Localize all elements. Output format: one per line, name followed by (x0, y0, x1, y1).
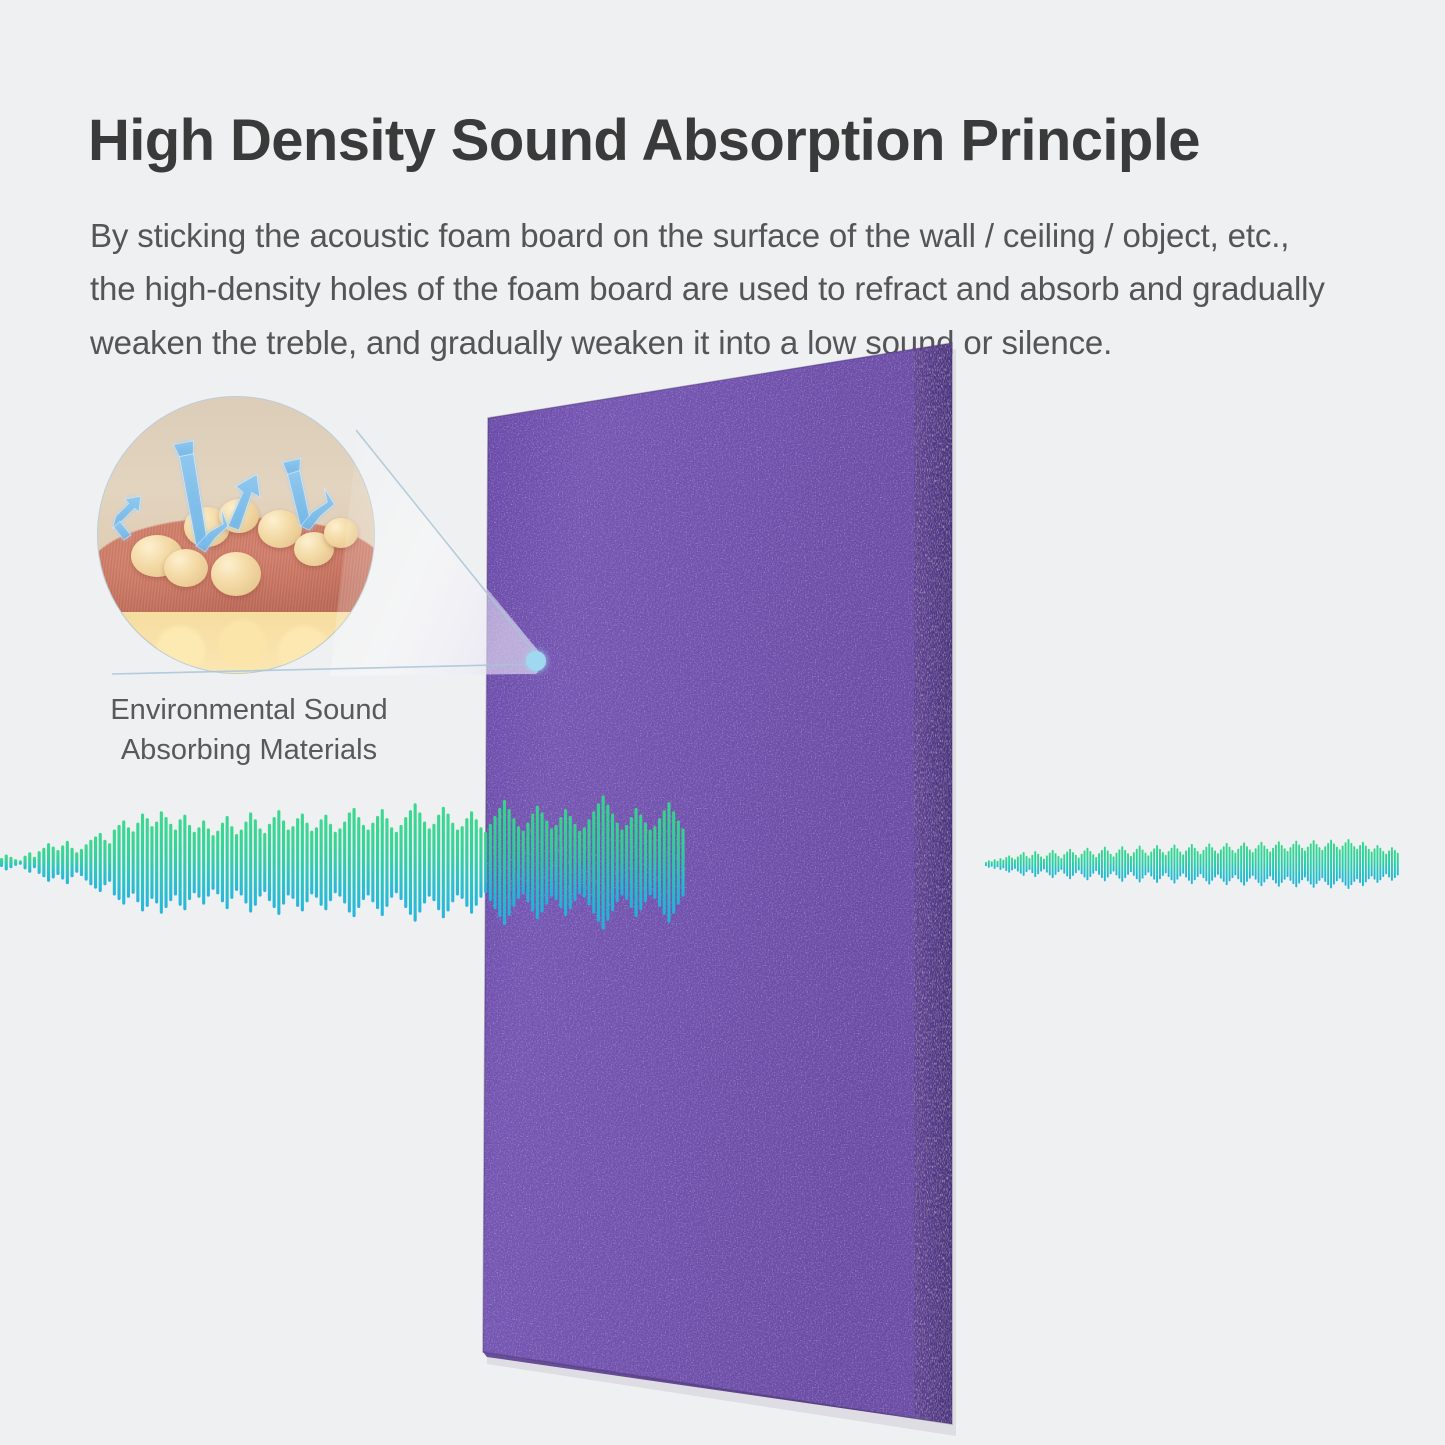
waveform-bar (1266, 849, 1268, 879)
waveform-bar (249, 812, 252, 912)
waveform-bar (1391, 847, 1393, 881)
waveform-bar (1168, 851, 1170, 877)
waveform-bar (630, 817, 633, 908)
waveform-bar (564, 809, 567, 916)
waveform-bar (24, 856, 27, 870)
waveform-bar (545, 820, 548, 904)
waveform-bar (1339, 849, 1341, 878)
waveform-bar (235, 834, 238, 891)
waveform-bar (437, 815, 440, 911)
waveform-bar (338, 828, 341, 896)
waveform-bar (1246, 846, 1248, 882)
waveform-bar (390, 827, 393, 898)
waveform-bar (1113, 856, 1115, 871)
waveform-bar (1258, 845, 1260, 883)
waveform-bar (1014, 859, 1016, 869)
waveform-bar (418, 812, 421, 912)
waveform-bar (1272, 848, 1274, 881)
waveform-bar (1107, 850, 1109, 877)
waveform-bar (1176, 848, 1178, 879)
waveform-bar (550, 828, 553, 896)
waveform-bar (5, 855, 8, 871)
waveform-bar (1310, 843, 1312, 884)
waveform-bar (1171, 848, 1173, 881)
waveform-bar (1017, 856, 1019, 871)
waveform-bar (569, 816, 572, 909)
waveform-bar (1063, 854, 1065, 874)
waveform-bar (1066, 852, 1068, 877)
waveform-bar (1353, 846, 1355, 882)
waveform-bar (1292, 844, 1294, 884)
waveform-bar (315, 827, 318, 898)
waveform-bar (620, 829, 623, 895)
waveform-bar (1342, 846, 1344, 883)
waveform-bar (1124, 850, 1126, 878)
waveform-bar (155, 822, 158, 904)
waveform-bar (1304, 850, 1306, 877)
waveform-bar (489, 824, 492, 901)
waveform-bar (1350, 843, 1352, 885)
waveform-bar (1281, 845, 1283, 883)
waveform-bar (1133, 852, 1135, 876)
waveform-bar (1142, 849, 1144, 878)
waveform-bar (183, 815, 186, 911)
waveform-bar (1060, 858, 1062, 870)
waveform-bar (658, 818, 661, 907)
waveform-bar (583, 827, 586, 898)
waveform-bar (1058, 856, 1060, 872)
waveform-bar (475, 819, 478, 906)
waveform-bar (494, 816, 497, 909)
waveform-bar (1240, 846, 1242, 883)
waveform-bar (282, 820, 285, 904)
waveform-bar (1188, 847, 1190, 881)
waveform-bar (461, 826, 464, 899)
waveform-bar (682, 828, 685, 896)
waveform-bar (602, 795, 605, 929)
waveform-bar (193, 832, 196, 893)
waveform-bar (1217, 853, 1219, 875)
waveform-bar (1208, 843, 1210, 884)
waveform-bar (991, 861, 993, 866)
waveform-bar (1321, 850, 1323, 878)
waveform-bar (1081, 854, 1083, 875)
waveform-bar (1029, 858, 1031, 870)
waveform-bar (597, 803, 600, 921)
waveform-bar (1295, 841, 1297, 888)
waveform-bar (197, 827, 200, 898)
waveform-bar (33, 857, 36, 868)
waveform-bar (1072, 852, 1074, 876)
waveform-bar (207, 828, 210, 896)
waveform-bar (1159, 849, 1161, 879)
waveform-bar (1118, 849, 1120, 878)
waveform-bar (1034, 851, 1036, 877)
waveform-bar (512, 818, 515, 907)
waveform-bar (503, 800, 506, 925)
waveform-bar (1043, 859, 1045, 870)
waveform-bar (400, 825, 403, 900)
waveform-bar (536, 806, 539, 920)
waveform-bar (287, 829, 290, 895)
waveform-bar (136, 823, 139, 903)
waveform-bar (616, 823, 619, 903)
waveform-bar (1316, 844, 1318, 884)
waveform-bar (306, 823, 309, 903)
waveform-bar (1179, 852, 1181, 877)
waveform-bar (165, 817, 168, 908)
waveform-bar (428, 828, 431, 896)
waveform-bar (663, 810, 666, 915)
waveform-bar (52, 847, 55, 879)
sound-refraction-arrow (288, 470, 311, 526)
waveform-bar (85, 844, 88, 880)
waveform-bar (169, 824, 172, 901)
waveform-bar (1121, 846, 1123, 882)
waveform-bar (1327, 843, 1329, 885)
waveform-bar (160, 811, 163, 913)
waveform-bar (1237, 849, 1239, 879)
waveform-bar (1139, 846, 1141, 883)
waveform-bar (216, 831, 219, 895)
waveform-bar (1191, 844, 1193, 884)
waveform-bar (1095, 857, 1097, 871)
waveform-bar (381, 809, 384, 916)
waveform-bar (1162, 852, 1164, 876)
waveform-bar (9, 857, 12, 868)
waveform-bar (230, 826, 233, 899)
infographic-poster: High Density Sound Absorption Principle … (0, 0, 1445, 1445)
waveform-bar (1150, 852, 1152, 877)
waveform-bar (94, 836, 97, 888)
waveform-bar (1379, 848, 1381, 881)
sound-refraction-arrow (179, 454, 207, 546)
waveform-bar (334, 832, 337, 893)
magnifier-caption-line2: Absorbing Materials (84, 730, 414, 770)
panel-right-edge (914, 343, 952, 1424)
sound-refraction-arrow (228, 474, 260, 530)
waveform-bar (414, 803, 417, 921)
waveform-bar (1263, 846, 1265, 883)
waveform-bar (188, 825, 191, 900)
waveform-bar (1385, 854, 1387, 875)
waveform-bar (259, 828, 262, 896)
waveform-bar (1359, 845, 1361, 883)
waveform-bar (447, 814, 450, 912)
waveform-bar (994, 859, 996, 869)
waveform-bar (635, 808, 638, 917)
waveform-bar (1229, 847, 1231, 882)
magnifier-caption: Environmental Sound Absorbing Materials (84, 690, 414, 770)
waveform-bar (329, 824, 332, 901)
waveform-bar (1031, 855, 1033, 873)
waveform-bar (118, 825, 121, 900)
waveform-bar (263, 833, 266, 892)
waveform-bar (343, 822, 346, 904)
waveform-bar (1382, 851, 1384, 877)
waveform-bar (1098, 853, 1100, 875)
waveform-bar (1214, 850, 1216, 877)
waveform-bar (451, 823, 454, 903)
waveform-bar (1374, 848, 1376, 879)
waveform-bar (89, 840, 92, 886)
waveform-bar (677, 820, 680, 904)
waveform-bar (179, 819, 182, 906)
waveform-bar (75, 852, 78, 872)
waveform-bar (555, 825, 558, 900)
waveform-bar (1319, 847, 1321, 881)
waveform-bar (103, 840, 106, 886)
waveform-bar (47, 843, 50, 882)
waveform-bar (254, 819, 257, 906)
waveform-bar (61, 845, 64, 879)
waveform-bar (1275, 844, 1277, 883)
waveform-bar (1220, 849, 1222, 878)
waveform-bar (1324, 846, 1326, 882)
sound-refraction-arrows (98, 397, 374, 673)
waveform-bar (672, 811, 675, 913)
waveform-bar (508, 809, 511, 916)
waveform-bar (146, 818, 149, 907)
waveform-bar (649, 829, 652, 895)
waveform-bar (1194, 848, 1196, 881)
waveform-bar (376, 816, 379, 909)
waveform-bar (479, 827, 482, 898)
waveform-bar (221, 823, 224, 903)
waveform-bar (1023, 852, 1025, 876)
waveform-bar (1084, 850, 1086, 877)
waveform-bar (1046, 855, 1048, 872)
waveform-bar (1362, 842, 1364, 886)
waveform-bar (320, 819, 323, 906)
waveform-bar (1203, 850, 1205, 878)
waveform-bar (1301, 848, 1303, 881)
waveform-bar (988, 860, 990, 868)
waveform-bar (1252, 852, 1254, 876)
waveform-bar (1153, 848, 1155, 879)
material-magnifier-circle (97, 396, 375, 674)
waveform-bar (1110, 854, 1112, 875)
waveform-bar (985, 862, 987, 866)
waveform-bar (353, 808, 356, 917)
waveform-bar (1330, 840, 1332, 889)
waveform-bar (541, 812, 544, 912)
waveform-bar (1136, 849, 1138, 879)
waveform-bar (56, 850, 59, 875)
waveform-bar (1174, 844, 1176, 883)
waveform-bar (1365, 846, 1367, 883)
waveform-bar (324, 815, 327, 911)
waveform-bar (588, 819, 591, 906)
waveform-bar (150, 826, 153, 899)
waveform-bar (240, 829, 243, 895)
waveform-bar (1116, 853, 1118, 876)
waveform-bar (141, 814, 144, 912)
waveform-bar (1243, 842, 1245, 885)
waveform-bar (517, 826, 520, 899)
waveform-bar (484, 832, 487, 893)
waveform-bar (423, 822, 426, 904)
waveform-bar (1348, 839, 1350, 889)
waveform-bar (1232, 850, 1234, 878)
waveform-bar (1249, 849, 1251, 878)
waveform-bar (531, 814, 534, 912)
waveform-bar (1092, 854, 1094, 874)
waveform-bar (1287, 851, 1289, 877)
waveform-bar (367, 829, 370, 895)
waveform-bar (310, 831, 313, 895)
waveform-bar (362, 825, 365, 900)
waveform-bar (1205, 847, 1207, 882)
waveform-bar (432, 824, 435, 901)
waveform-bar (592, 811, 595, 913)
waveform-bar (1200, 854, 1202, 875)
waveform-bar (296, 818, 299, 907)
waveform-bar (667, 802, 670, 923)
magnifier-caption-line1: Environmental Sound (84, 690, 414, 730)
waveform-bar (625, 825, 628, 900)
waveform-bar (1055, 853, 1057, 875)
waveform-bar (212, 835, 215, 890)
waveform-bar (202, 820, 205, 904)
waveform-bar (522, 831, 525, 895)
waveform-bar (1261, 842, 1263, 886)
waveform-bar (456, 829, 459, 895)
waveform-bar (526, 823, 529, 903)
waveform-bar (1165, 855, 1167, 873)
waveform-bar (442, 807, 445, 919)
waveform-bar (1298, 844, 1300, 883)
waveform-bar (409, 810, 412, 915)
waveform-bar (559, 817, 562, 908)
waveform-bar (1026, 856, 1028, 872)
waveform-bar (19, 860, 22, 865)
waveform-bar (1211, 847, 1213, 881)
waveform-bar (1290, 847, 1292, 881)
waveform-bar (1020, 854, 1022, 874)
attenuated-sound-waveform (985, 838, 1400, 890)
waveform-bar (1197, 851, 1199, 877)
waveform-bar (653, 826, 656, 899)
waveform-bar (14, 859, 17, 866)
waveform-bar (66, 841, 69, 884)
waveform-bar (1388, 850, 1390, 877)
waveform-bar (80, 849, 83, 876)
waveform-bar (1101, 850, 1103, 878)
waveform-bar (470, 811, 473, 913)
waveform-bar (38, 851, 41, 874)
waveform-bar (371, 823, 374, 903)
waveform-bar (108, 843, 111, 882)
waveform-bar (1307, 847, 1309, 882)
waveform-bar (1182, 854, 1184, 874)
waveform-bar (1371, 852, 1373, 877)
waveform-bar (268, 824, 271, 901)
waveform-bar (606, 804, 609, 920)
waveform-bar (28, 852, 31, 872)
waveform-bar (385, 818, 388, 907)
waveform-bar (244, 822, 247, 904)
waveform-bar (1127, 853, 1129, 875)
waveform-bar (122, 820, 125, 904)
waveform-bar (1284, 848, 1286, 879)
waveform-bar (277, 810, 280, 915)
waveform-bar (1104, 847, 1106, 882)
waveform-bar (1075, 855, 1077, 873)
waveform-bar (1005, 857, 1007, 871)
waveform-bar (0, 858, 3, 867)
waveform-bar (1394, 850, 1396, 878)
waveform-bar (1040, 856, 1042, 871)
waveform-bar (1226, 843, 1228, 885)
incoming-sound-waveform (0, 770, 690, 955)
waveform-bar (404, 817, 407, 908)
waveform-bar (1336, 847, 1338, 882)
waveform-bar (1147, 855, 1149, 872)
sound-refraction-arrow (173, 441, 193, 457)
waveform-bar (273, 817, 276, 908)
waveform-bar (1234, 853, 1236, 876)
waveform-bar (1000, 858, 1002, 870)
waveform-bar (291, 826, 294, 899)
waveform-bar (395, 832, 398, 893)
waveform-bar (1255, 848, 1257, 879)
waveform-bar (99, 833, 102, 892)
waveform-bar (578, 831, 581, 895)
waveform-bar (1223, 846, 1225, 882)
waveform-bar (1037, 854, 1039, 875)
waveform-bar (1069, 849, 1071, 879)
waveform-bar (132, 831, 135, 894)
waveform-bar (639, 815, 642, 911)
waveform-bar (1087, 848, 1089, 881)
waveform-bar (1377, 845, 1379, 883)
waveform-bar (1130, 856, 1132, 872)
waveform-bar (1278, 841, 1280, 887)
waveform-bar (1049, 853, 1051, 876)
waveform-bar (1333, 843, 1335, 884)
waveform-bar (113, 829, 116, 895)
waveform-bar (1052, 850, 1054, 878)
waveform-bar (1269, 852, 1271, 877)
waveform-bar (71, 848, 74, 878)
waveform-bar (644, 823, 647, 903)
waveform-bar (226, 816, 229, 909)
waveform-bar (1345, 842, 1347, 885)
waveform-bar (498, 808, 501, 917)
waveform-bar (1078, 857, 1080, 870)
waveform-bar (465, 818, 468, 907)
waveform-bar (1368, 849, 1370, 879)
waveform-bar (1313, 840, 1315, 888)
waveform-bar (997, 861, 999, 868)
waveform-bar (1156, 845, 1158, 883)
waveform-bar (1008, 855, 1010, 872)
waveform-bar (301, 814, 304, 912)
waveform-bar (1145, 853, 1147, 876)
waveform-bar (174, 829, 177, 895)
sound-refraction-arrow (113, 496, 141, 528)
waveform-bar (1011, 857, 1013, 870)
waveform-bar (1002, 860, 1004, 869)
waveform-bar (127, 827, 130, 898)
waveform-bar (42, 848, 45, 878)
waveform-bar (573, 824, 576, 901)
waveform-bar (348, 812, 351, 912)
waveform-bar (1356, 849, 1358, 879)
waveform-bar (611, 814, 614, 912)
waveform-bar (1089, 851, 1091, 877)
